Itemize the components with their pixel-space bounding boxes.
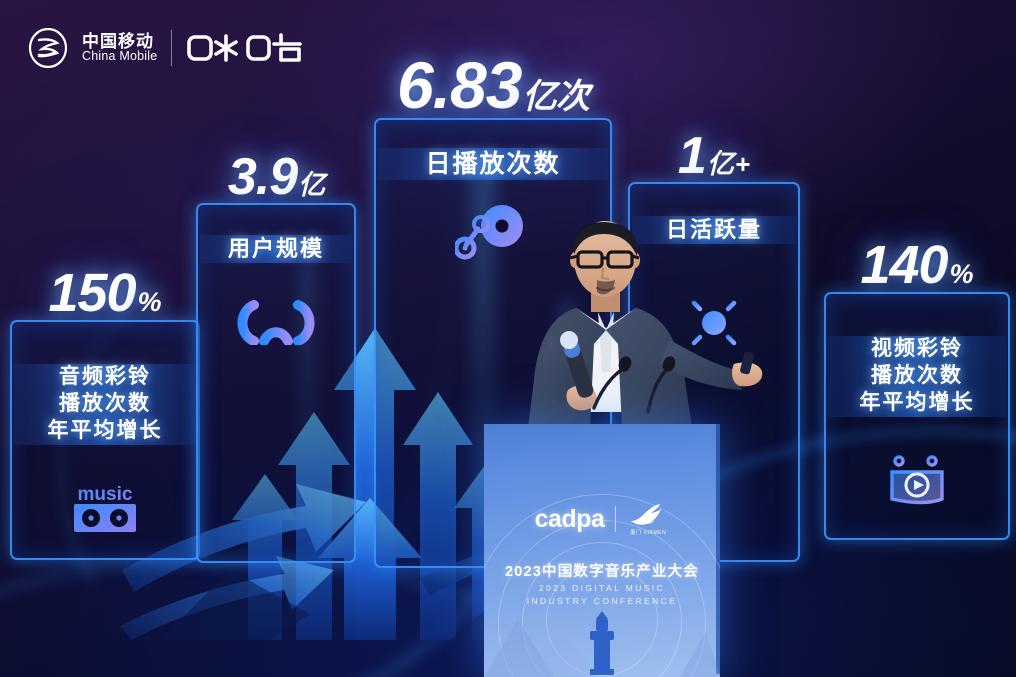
stat-label: 日播放次数 <box>378 148 608 180</box>
video-play-frame-icon <box>884 452 950 515</box>
stat-value: 3.9亿 <box>228 151 324 203</box>
podium-logo-divider <box>615 506 616 532</box>
podium-logo-row: cadpa 厦门 XIAMEN <box>484 502 720 536</box>
stat-value: 150% <box>48 266 161 320</box>
xiamen-egret-icon: 厦门 XIAMEN <box>627 502 669 536</box>
logo-divider <box>171 30 172 66</box>
stat-card-video-ringtone-growth: 140% 视频彩铃 播放次数 年平均增长 <box>824 292 1010 540</box>
stat-label: 用户规模 <box>200 235 352 263</box>
speaker-presenter <box>498 212 798 452</box>
china-mobile-cn-label: 中国移动 <box>82 33 157 51</box>
brand-logo-bar: 中国移动 China Mobile <box>28 28 304 68</box>
stat-value: 140% <box>860 238 973 292</box>
conference-podium: cadpa 厦门 XIAMEN 2023中国数字音乐产业大会 2023 DIGI… <box>484 424 720 677</box>
migu-wordmark <box>186 31 304 65</box>
stat-card-user-scale: 3.9亿 用户规模 <box>196 203 356 563</box>
stat-label: 视频彩铃 播放次数 年平均增长 <box>828 336 1006 417</box>
china-mobile-en-label: China Mobile <box>82 50 157 63</box>
stat-value: 1亿+ <box>678 130 750 182</box>
china-mobile-swirl-icon <box>28 28 68 68</box>
migu-arcs-icon <box>230 299 322 350</box>
conference-stage-photo: 中国移动 China Mobile 150% 音频彩铃 播放次数 年平均增长 <box>0 0 1016 677</box>
stat-label: 音频彩铃 播放次数 年平均增长 <box>14 364 196 445</box>
stat-card-audio-ringtone-growth: 150% 音频彩铃 播放次数 年平均增长 music <box>10 320 200 560</box>
stat-value: 6.83亿次 <box>397 52 589 118</box>
svg-text:music: music <box>78 484 133 505</box>
lighthouse-icon <box>484 567 720 677</box>
music-cassette-icon: music <box>68 480 142 543</box>
cadpa-logo: cadpa <box>535 505 605 534</box>
xiamen-caption: 厦门 XIAMEN <box>630 529 666 536</box>
